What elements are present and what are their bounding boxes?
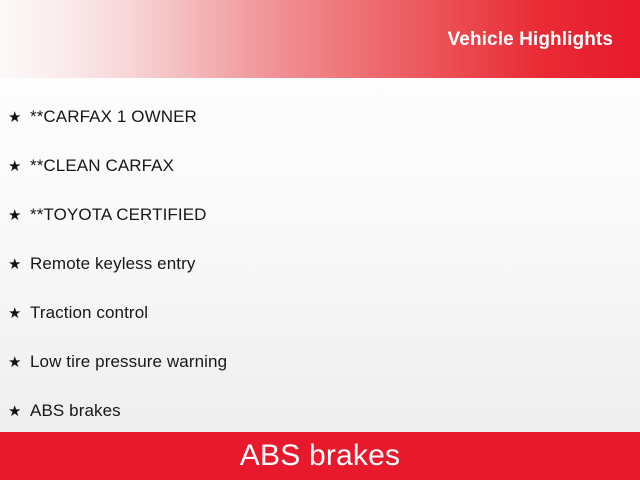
list-item: ★ **CLEAN CARFAX bbox=[0, 142, 640, 191]
list-item: ★ **CARFAX 1 OWNER bbox=[0, 93, 640, 142]
vehicle-highlights-panel: Vehicle Highlights ★ **CARFAX 1 OWNER ★ … bbox=[0, 0, 640, 480]
highlight-label: Low tire pressure warning bbox=[30, 353, 640, 372]
star-icon: ★ bbox=[8, 110, 30, 125]
highlight-label: ABS brakes bbox=[30, 402, 640, 421]
highlight-label: **TOYOTA CERTIFIED bbox=[30, 206, 640, 225]
star-icon: ★ bbox=[8, 257, 30, 272]
list-item: ★ Remote keyless entry bbox=[0, 240, 640, 289]
highlight-label: **CLEAN CARFAX bbox=[30, 157, 640, 176]
page-title: Vehicle Highlights bbox=[448, 30, 613, 49]
star-icon: ★ bbox=[8, 404, 30, 419]
star-icon: ★ bbox=[8, 159, 30, 174]
list-item: ★ **TOYOTA CERTIFIED bbox=[0, 191, 640, 240]
panel-footer: ABS brakes bbox=[0, 432, 640, 480]
footer-caption: ABS brakes bbox=[240, 441, 400, 471]
star-icon: ★ bbox=[8, 208, 30, 223]
highlight-label: Traction control bbox=[30, 304, 640, 323]
highlight-label: **CARFAX 1 OWNER bbox=[30, 108, 640, 127]
highlights-body: ★ **CARFAX 1 OWNER ★ **CLEAN CARFAX ★ **… bbox=[0, 78, 640, 432]
highlights-list: ★ **CARFAX 1 OWNER ★ **CLEAN CARFAX ★ **… bbox=[0, 93, 640, 432]
list-item: ★ Low tire pressure warning bbox=[0, 338, 640, 387]
list-item: ★ Traction control bbox=[0, 289, 640, 338]
star-icon: ★ bbox=[8, 355, 30, 370]
list-item: ★ ABS brakes bbox=[0, 387, 640, 432]
highlight-label: Remote keyless entry bbox=[30, 255, 640, 274]
star-icon: ★ bbox=[8, 306, 30, 321]
panel-header: Vehicle Highlights bbox=[0, 0, 640, 78]
